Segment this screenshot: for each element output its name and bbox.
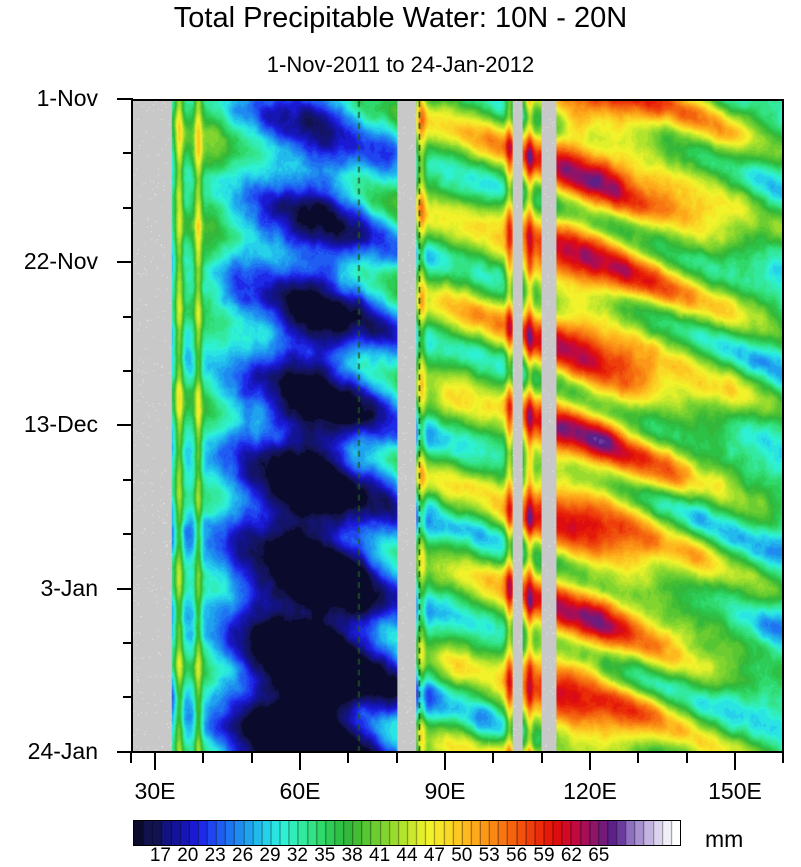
colorbar <box>133 820 681 846</box>
y-tick-minor <box>123 642 133 644</box>
y-tick-label: 13-Dec <box>0 411 98 438</box>
y-tick-label: 22-Nov <box>0 248 98 275</box>
x-tick-label: 30E <box>95 778 215 805</box>
x-tick-minor <box>396 753 398 763</box>
y-tick-minor <box>123 479 133 481</box>
x-tick-minor <box>686 753 688 763</box>
y-tick-minor <box>123 370 133 372</box>
x-tick-label: 90E <box>385 778 505 805</box>
y-tick-major <box>117 424 133 426</box>
y-tick-label: 3-Jan <box>0 575 98 602</box>
colorbar-canvas <box>133 820 681 846</box>
x-tick-label: 120E <box>530 778 650 805</box>
colorbar-unit-label: mm <box>705 826 743 853</box>
x-tick-label: 150E <box>675 778 795 805</box>
y-tick-label: 1-Nov <box>0 85 98 112</box>
x-tick-major <box>734 753 736 770</box>
x-tick-label: 60E <box>240 778 360 805</box>
y-tick-major <box>117 98 133 100</box>
chart-root: Total Precipitable Water: 10N - 20N 1-No… <box>0 0 801 866</box>
y-tick-minor <box>123 533 133 535</box>
colorbar-tick-label: 65 <box>579 845 619 867</box>
y-tick-major <box>117 261 133 263</box>
chart-subtitle: 1-Nov-2011 to 24-Jan-2012 <box>0 52 801 78</box>
y-tick-label: 24-Jan <box>0 738 98 765</box>
page-title: Total Precipitable Water: 10N - 20N <box>0 2 801 35</box>
y-tick-major <box>117 588 133 590</box>
y-tick-minor <box>123 316 133 318</box>
x-tick-minor <box>492 753 494 763</box>
y-tick-minor <box>123 207 133 209</box>
x-tick-minor <box>347 753 349 763</box>
heatmap-plot-area <box>131 99 784 753</box>
x-tick-major <box>444 753 446 770</box>
x-tick-minor <box>782 753 784 763</box>
x-tick-minor <box>130 753 132 763</box>
y-tick-minor <box>123 152 133 154</box>
x-tick-minor <box>251 753 253 763</box>
x-tick-minor <box>541 753 543 763</box>
y-tick-minor <box>123 696 133 698</box>
x-tick-major <box>154 753 156 770</box>
x-tick-major <box>299 753 301 770</box>
heatmap-canvas <box>133 101 782 751</box>
x-tick-major <box>589 753 591 770</box>
x-tick-minor <box>637 753 639 763</box>
x-tick-minor <box>202 753 204 763</box>
